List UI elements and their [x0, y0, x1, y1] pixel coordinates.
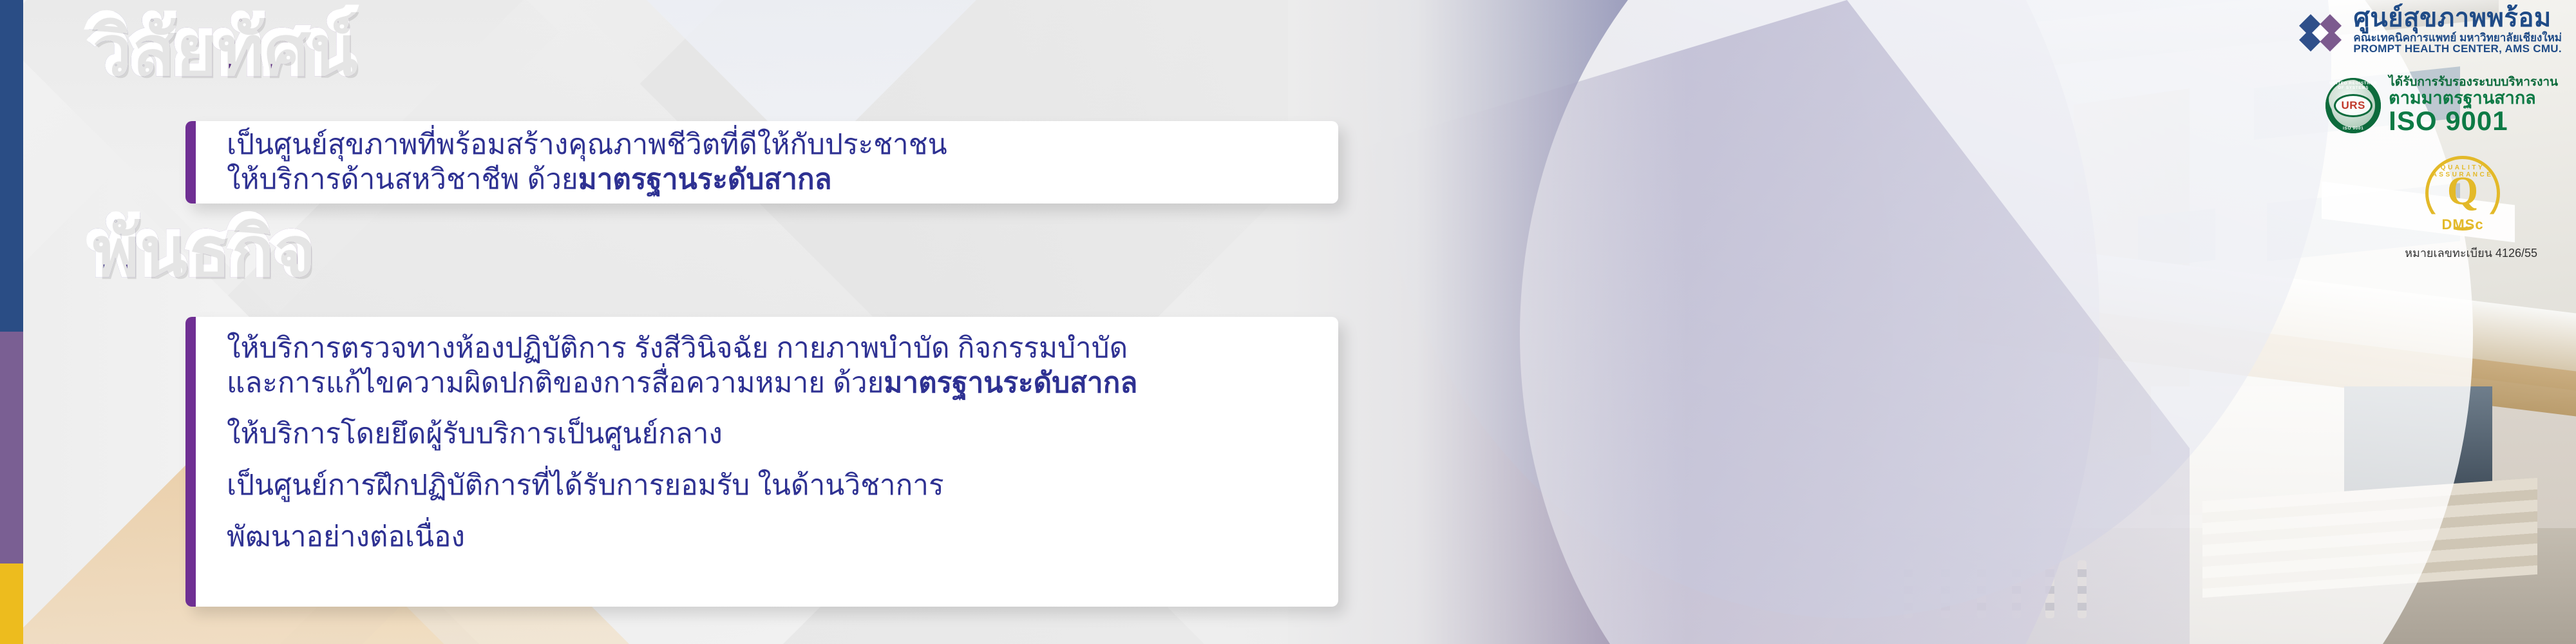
mission-heading: พันธกิจ	[89, 213, 312, 285]
brand-lockup: ศูนย์สุขภาพพร้อม คณะเทคนิคการแพทย์ มหาวิ…	[2297, 5, 2562, 57]
mission-line-3: ให้บริการโดยยึดผู้รับบริการเป็นศูนย์กลาง	[227, 417, 1312, 451]
vision-line-1-text: เป็นศูนย์สุขภาพที่พร้อมสร้างคุณภาพชีวิตท…	[227, 129, 947, 160]
mission-line-2-text: และการแก้ไขความผิดปกติของการสื่อความหมาย…	[227, 367, 884, 399]
registration-number: หมายเลขทะเบียน 4126/55	[2405, 243, 2537, 262]
brand-text-block: ศูนย์สุขภาพพร้อม คณะเทคนิคการแพทย์ มหาวิ…	[2353, 5, 2562, 55]
vision-card: เป็นศูนย์สุขภาพที่พร้อมสร้างคุณภาพชีวิตท…	[185, 121, 1338, 204]
mission-card-body: ให้บริการตรวจทางห้องปฏิบัติการ รังสีวินิ…	[227, 317, 1312, 607]
dmsc-quality-assurance-badge: QUALITY ASSURANCE Q DMSc	[2425, 156, 2500, 231]
brand-name-th: ศูนย์สุขภาพพร้อม	[2353, 5, 2562, 32]
iso-line-2: ตามมาตรฐานสากล	[2389, 89, 2558, 107]
mission-line-4: เป็นศูนย์การฝึกปฏิบัติการที่ได้รับการยอม…	[227, 468, 1312, 503]
mission-line-5: พัฒนาอย่างต่อเนื่อง	[227, 520, 1312, 554]
vision-line-2-text: ให้บริการด้านสหวิชาชีพ ด้วย	[227, 164, 578, 195]
urs-seal-top-text: UNITED REGISTRAR OF SYSTEMS	[2325, 81, 2381, 90]
rail-segment-gold	[0, 563, 23, 644]
mission-line-1-text: ให้บริการตรวจทางห้องปฏิบัติการ รังสีวินิ…	[227, 332, 1128, 364]
iso-text-block: ได้รับการรับรองระบบบริหารงาน ตามมาตรฐานส…	[2389, 76, 2558, 135]
vision-line-2-bold: มาตรฐานระดับสากล	[578, 164, 832, 195]
vision-line-1: เป็นศูนย์สุขภาพที่พร้อมสร้างคุณภาพชีวิตท…	[227, 128, 1312, 162]
left-color-rail	[0, 0, 23, 644]
vision-card-body: เป็นศูนย์สุขภาพที่พร้อมสร้างคุณภาพชีวิตท…	[227, 121, 1312, 204]
iso-certification-badge: UNITED REGISTRAR OF SYSTEMS URS ISO 9001…	[2325, 76, 2558, 135]
urs-seal-bottom-text: ISO 9001	[2325, 126, 2381, 131]
mission-line-2-bold: มาตรฐานระดับสากล	[884, 367, 1137, 399]
q-badge-bottom-text: DMSc	[2425, 216, 2500, 233]
mission-line-1: ให้บริการตรวจทางห้องปฏิบัติการ รังสีวินิ…	[227, 331, 1312, 366]
mission-line-3-text: ให้บริการโดยยึดผู้รับบริการเป็นศูนย์กลาง	[227, 418, 723, 450]
mission-line-2: และการแก้ไขความผิดปกติของการสื่อความหมาย…	[227, 366, 1312, 401]
photo-left-fade	[1288, 0, 1687, 644]
brand-faculty-th: คณะเทคนิคการแพทย์ มหาวิทยาลัยเชียงใหม่	[2353, 32, 2562, 44]
rail-segment-purple	[0, 332, 23, 563]
vision-heading: วิสัยทัศน์	[89, 12, 354, 84]
mission-card: ให้บริการตรวจทางห้องปฏิบัติการ รังสีวินิ…	[185, 317, 1338, 607]
urs-seal-core-text: URS	[2334, 94, 2372, 117]
q-badge-letter: Q	[2447, 171, 2478, 211]
iso-line-3: ISO 9001	[2389, 107, 2558, 135]
vision-mission-banner: วิสัยทัศน์ เป็นศูนย์สุขภาพที่พร้อมสร้างค…	[0, 0, 2576, 644]
iso-line-1: ได้รับการรับรองระบบบริหารงาน	[2389, 76, 2558, 89]
urs-seal-icon: UNITED REGISTRAR OF SYSTEMS URS ISO 9001	[2325, 78, 2381, 133]
prompt-health-center-logo-icon	[2297, 9, 2344, 57]
brand-name-en: PROMPT HEALTH CENTER, AMS CMU.	[2353, 43, 2562, 55]
mission-line-4-text: เป็นศูนย์การฝึกปฏิบัติการที่ได้รับการยอม…	[227, 469, 944, 501]
mission-line-5-text: พัฒนาอย่างต่อเนื่อง	[227, 521, 465, 553]
rail-segment-navy	[0, 0, 23, 332]
vision-line-2: ให้บริการด้านสหวิชาชีพ ด้วยมาตรฐานระดับส…	[227, 162, 1312, 197]
